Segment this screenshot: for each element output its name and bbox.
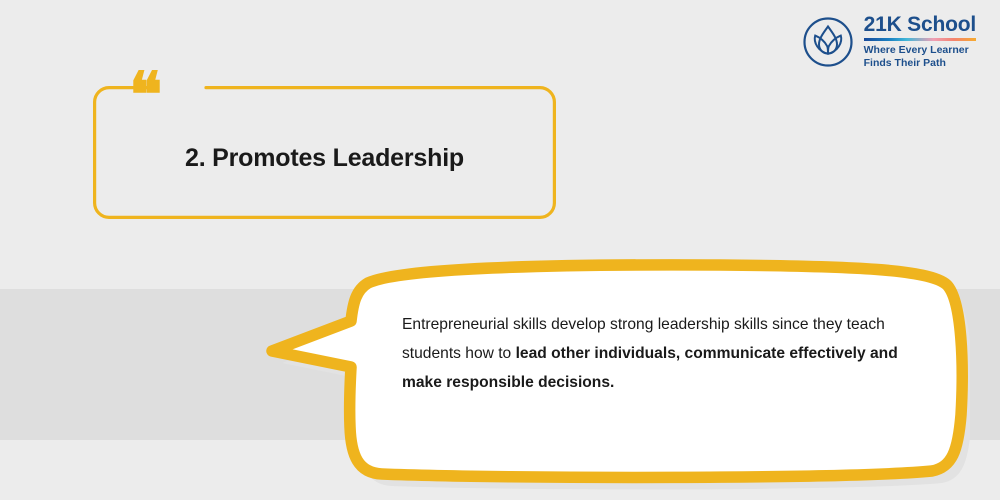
title-card: ❝ 2. Promotes Leadership (93, 86, 556, 219)
speech-bubble: Entrepreneurial skills develop strong le… (250, 255, 970, 490)
brand-name: 21K School (864, 14, 976, 36)
lotus-circle-logo-icon (802, 16, 854, 68)
brand-tagline: Where Every Learner Finds Their Path (864, 44, 969, 70)
brand-gradient-rule (864, 38, 976, 41)
bubble-paragraph: Entrepreneurial skills develop strong le… (402, 310, 912, 397)
page-title: 2. Promotes Leadership (93, 86, 556, 219)
brand-logo-text: 21K School Where Every Learner Finds The… (864, 14, 976, 70)
brand-logo[interactable]: 21K School Where Every Learner Finds The… (802, 14, 976, 70)
slide-canvas: 21K School Where Every Learner Finds The… (0, 0, 1000, 500)
brand-tagline-line2: Finds Their Path (864, 57, 946, 69)
brand-tagline-line1: Where Every Learner (864, 44, 969, 56)
